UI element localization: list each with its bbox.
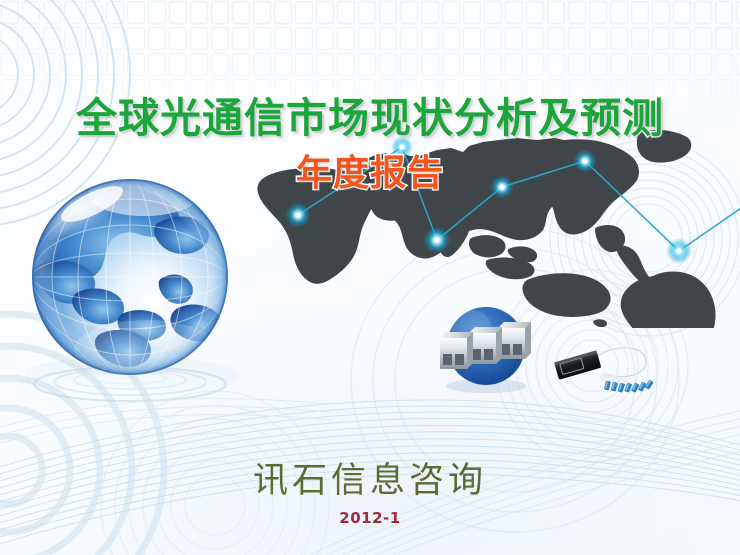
splitter-body	[554, 350, 601, 379]
company-name: 讯石信息咨询	[0, 452, 740, 503]
sfp-module-3	[498, 322, 531, 359]
page-title: 全球光通信市场现状分析及预测	[0, 84, 740, 144]
plc-splitter-graphic	[548, 330, 658, 398]
page-subtitle: 年度报告	[0, 144, 740, 196]
sfp-modules-graphic	[432, 302, 537, 397]
globe-graphic	[26, 172, 241, 402]
title-slide: 全球光通信市场现状分析及预测 年度报告 讯石信息咨询 2012-1	[0, 0, 740, 555]
sfp-module-2	[469, 327, 502, 364]
report-date: 2012-1	[0, 509, 740, 527]
sfp-module-1	[440, 332, 473, 369]
